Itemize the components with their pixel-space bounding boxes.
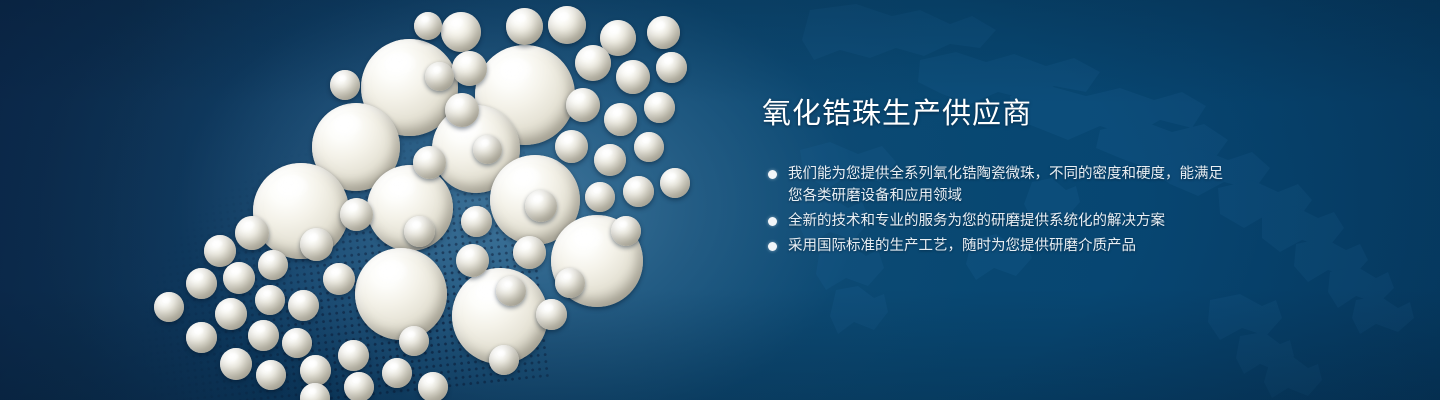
list-item: 我们能为您提供全系列氧化锆陶瓷微珠，不同的密度和硬度，能满足您各类研磨设备和应用… [760, 163, 1230, 207]
zirconia-beads-image [0, 0, 760, 400]
list-item-text: 采用国际标准的生产工艺，随时为您提供研磨介质产品 [788, 238, 1136, 254]
bullet-dot-icon [768, 242, 777, 251]
hero-banner: 氧化锆珠生产供应商 我们能为您提供全系列氧化锆陶瓷微珠，不同的密度和硬度，能满足… [0, 0, 1440, 400]
bullet-dot-icon [768, 170, 777, 179]
page-title: 氧化锆珠生产供应商 [762, 100, 1230, 129]
banner-copy: 氧化锆珠生产供应商 我们能为您提供全系列氧化锆陶瓷微珠，不同的密度和硬度，能满足… [760, 100, 1230, 260]
list-item: 采用国际标准的生产工艺，随时为您提供研磨介质产品 [760, 235, 1230, 257]
bullet-dot-icon [768, 217, 777, 226]
list-item: 全新的技术和专业的服务为您的研磨提供系统化的解决方案 [760, 210, 1230, 232]
feature-list: 我们能为您提供全系列氧化锆陶瓷微珠，不同的密度和硬度，能满足您各类研磨设备和应用… [760, 163, 1230, 257]
list-item-text: 全新的技术和专业的服务为您的研磨提供系统化的解决方案 [788, 213, 1165, 229]
list-item-text: 我们能为您提供全系列氧化锆陶瓷微珠，不同的密度和硬度，能满足您各类研磨设备和应用… [788, 166, 1223, 204]
